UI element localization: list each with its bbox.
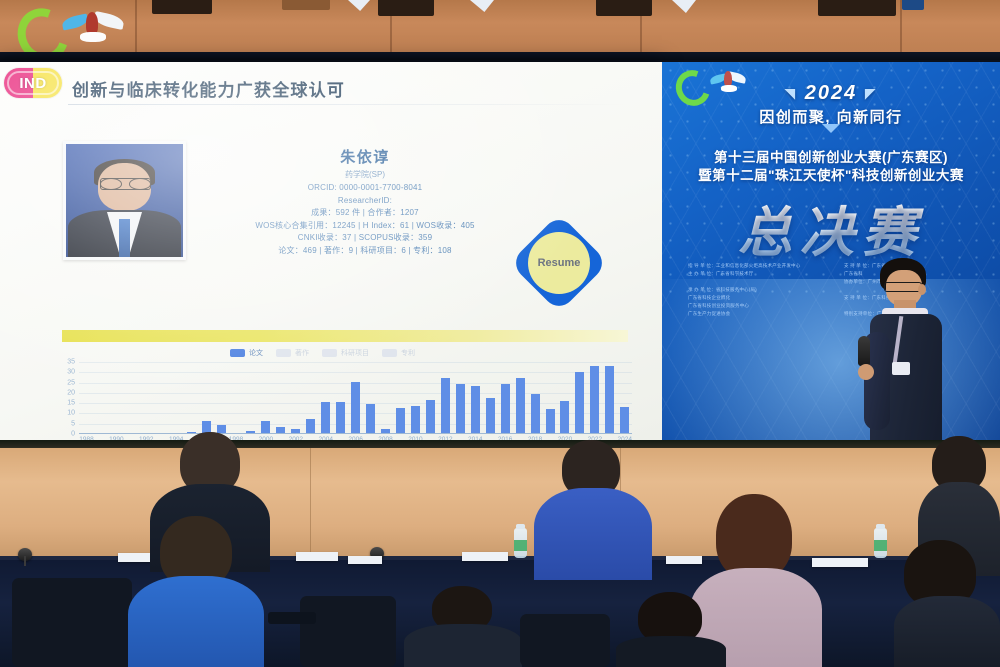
chevron-left-icon: ◥ [784,85,797,102]
ceiling-fixture [818,0,896,16]
chart-y-tick: 35 [67,359,75,366]
banner-competition-line-2: 暨第十二届"珠江天使杯"科技创新创业大赛 [662,164,1000,184]
profile-researcherid: ResearcherID: [200,195,530,208]
audience-chair [520,614,610,667]
profile-stat-line-1: 成果：592 件 | 合作者：1207 [200,207,530,220]
chart-legend-item-2[interactable]: 科研项目 [322,348,369,358]
chart-y-tick: 10 [67,410,75,417]
chart-bar[interactable] [426,400,435,434]
chart-bar[interactable] [501,384,510,434]
banner-year-text: 2024 [805,82,858,104]
chart-bar[interactable] [441,378,450,434]
chart-bar-slot [333,362,348,434]
chart-bar-slot [558,362,573,434]
profile-stat-line-2: WOS核心合集引用：12245 | H Index：61 | WOS收录：405 [200,220,530,233]
chart-bars [79,362,632,434]
chart-bar-slot [602,362,617,434]
document-paper [462,552,508,561]
chart-bar-slot [572,362,587,434]
chart-bar[interactable] [366,404,375,434]
chart-bar[interactable] [471,386,480,434]
resume-badge: Resume [518,222,600,304]
chart-bar-slot [273,362,288,434]
chart-bar-slot [378,362,393,434]
publications-bar-chart: 论文著作科研项目专利 05101520253035 1988·1990·1992… [60,348,632,453]
audience-person [616,592,726,667]
ceiling-fixture [596,0,652,16]
chart-bar-slot [199,362,214,434]
presenter-ear [918,284,926,295]
chart-bar[interactable] [396,408,405,434]
chart-bar-slot [288,362,303,434]
ceiling-vent [672,0,696,13]
banner-competition-line-1: 第十三届中国创新创业大赛(广东赛区) [662,146,1000,166]
chart-plot-area: 05101520253035 [60,362,632,434]
chart-bar-slot [513,362,528,434]
legend-swatch [382,349,397,357]
chart-bar-slot [169,362,184,434]
legend-swatch [230,349,245,357]
profile-dept: 药学院(SP) [200,169,530,180]
chart-bar[interactable] [546,409,555,434]
chart-bar[interactable] [486,398,495,434]
upper-wood-wall [0,0,1000,56]
chart-bar-slot [423,362,438,434]
profile-orcid: ORCID: 0000-0001-7700-8041 [200,182,530,195]
yellow-divider-bar [62,330,628,342]
chart-bar-slot [453,362,468,434]
profile-stat-line-3: CNKI收录：37 | SCOPUS收录：359 [200,232,530,245]
presenter-glasses [884,282,922,292]
chart-bar[interactable] [336,402,345,434]
legend-label: 著作 [295,348,309,358]
chevron-right-icon: ◤ [865,85,878,102]
chart-bar[interactable] [306,419,315,434]
microphone-icon [858,336,870,366]
slide-title: 创新与临床转化能力广获全球认可 [72,76,345,101]
audience-chair [300,596,396,667]
ceiling-vent [348,0,370,11]
hall-logo-wing-emblem [62,10,124,46]
conference-hall-photo: IND 创新与临床转化能力广获全球认可 朱依谆 药学院(SP) ORCID: 0… [0,0,1000,667]
chart-bar[interactable] [575,372,584,434]
resume-badge-label: Resume [528,232,590,294]
chart-bar-slot [229,362,244,434]
profile-info-block: 朱依谆 药学院(SP) ORCID: 0000-0001-7700-8041 R… [200,146,530,257]
chart-bar-slot [139,362,154,434]
banner-year: ◥ 2024 ◤ [662,82,1000,105]
water-bottle [874,528,887,558]
profile-stat-line-4: 论文：469 | 著作：9 | 科研项目：6 | 专利：108 [200,245,530,258]
hall-logo-green-c [18,8,52,46]
chart-bar-slot [184,362,199,434]
audience-person [894,540,1000,667]
chart-bar-slot [483,362,498,434]
presenter-hand [858,364,874,380]
chart-bar-slot [94,362,109,434]
chart-bar-slot [438,362,453,434]
document-paper [296,552,338,561]
chart-y-tick: 30 [67,369,75,376]
ind-logo-text: IND [4,68,62,98]
profile-name: 朱依谆 [200,146,530,167]
banner-arrow-down-icon [822,124,840,133]
banner-sponsors-left: 指 导 单 位：工业和信息化部火炬高技术产业开发中心 主 办 单 位：广东省科学… [688,262,828,318]
legend-swatch [276,349,291,357]
chart-bar-slot [587,362,602,434]
chart-bar[interactable] [351,382,360,434]
water-bottle [514,528,527,558]
chair-armrest [268,612,316,624]
chart-y-tick: 15 [67,400,75,407]
title-divider [68,104,628,105]
portrait-glasses [100,178,151,190]
ceiling-fixture [902,0,924,10]
chart-y-tick: 0 [71,431,75,438]
chart-y-tick: 5 [71,420,75,427]
ceiling-fixture [152,0,212,14]
audience-person [404,586,522,667]
legend-label: 科研项目 [341,348,369,358]
legend-label: 论文 [249,348,263,358]
chart-bar-slot [124,362,139,434]
audience-shoulders [128,576,264,667]
projection-screen: IND 创新与临床转化能力广获全球认可 朱依谆 药学院(SP) ORCID: 0… [0,62,662,442]
document-paper [348,556,382,564]
chart-bar-slot [617,362,632,434]
ceiling-vent [470,0,494,12]
ceiling-fixture [282,0,330,10]
chart-bar[interactable] [531,394,540,434]
chart-bar-slot [303,362,318,434]
chart-legend-item-3[interactable]: 专利 [382,348,415,358]
chart-legend-item-0[interactable]: 论文 [230,348,263,358]
presenter-badge [892,362,910,375]
audience-shoulders [616,636,726,667]
legend-label: 专利 [401,348,415,358]
chart-legend-item-1[interactable]: 著作 [276,348,309,358]
audience-chair [12,578,132,667]
profile-portrait [63,141,186,260]
desk-microphone-stem [24,556,26,566]
chart-bar-slot [498,362,513,434]
audience-shoulders [894,596,1000,667]
chart-y-tick: 20 [67,389,75,396]
chart-legend: 论文著作科研项目专利 [230,348,415,358]
chart-bar-slot [348,362,363,434]
chart-bar-slot [528,362,543,434]
chart-bar-slot [214,362,229,434]
audience-person [534,440,652,580]
chart-bar[interactable] [516,378,525,434]
ind-logo: IND [4,68,62,98]
chart-bar-slot [258,362,273,434]
chart-bar-slot [543,362,558,434]
legend-swatch [322,349,337,357]
chart-bar-slot [109,362,124,434]
banner-main-title: 总决赛 [662,188,1000,267]
chart-bar-slot [468,362,483,434]
chart-bar[interactable] [590,366,599,434]
chart-bar-slot [243,362,258,434]
audience-shoulders [404,624,522,667]
chart-bar-slot [318,362,333,434]
chart-bar-slot [79,362,94,434]
audience-person [128,516,264,667]
audience-shoulders [534,488,652,580]
chart-bar[interactable] [620,407,629,434]
chart-bar-slot [363,362,378,434]
chart-y-tick: 25 [67,379,75,386]
chart-bar[interactable] [411,406,420,434]
chart-bar-slot [393,362,408,434]
chart-bar[interactable] [456,384,465,434]
chart-y-axis: 05101520253035 [60,362,77,434]
chart-bar[interactable] [605,366,614,434]
chart-bar[interactable] [321,402,330,434]
ceiling-fixture [378,0,434,16]
chart-bar[interactable] [560,401,569,434]
portrait-tie [119,219,130,257]
chart-bar-slot [408,362,423,434]
chart-bar-slot [154,362,169,434]
